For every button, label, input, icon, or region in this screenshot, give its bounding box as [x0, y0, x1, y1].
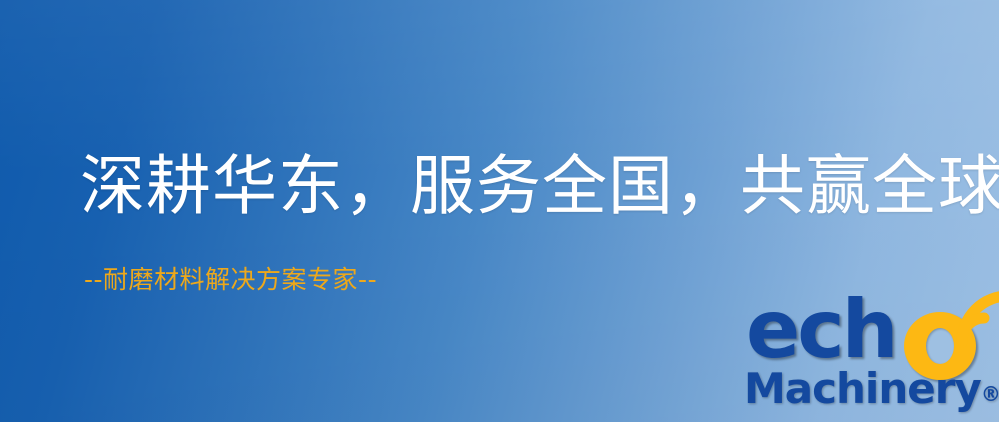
subtitle-text: --耐磨材料解决方案专家--	[84, 264, 377, 296]
promo-banner: 深耕华东，服务全国，共赢全球 --耐磨材料解决方案专家-- ech Machin…	[0, 0, 999, 422]
logo-tagline: Machinery®	[744, 366, 999, 417]
logo-brand-text: ech	[746, 290, 896, 370]
registered-trademark-icon: ®	[981, 382, 999, 406]
headline-text: 深耕华东，服务全国，共赢全球	[80, 148, 999, 226]
logo-tagline-text: Machinery	[744, 364, 981, 413]
signal-waves-icon	[956, 290, 999, 350]
logo-o-counter	[926, 328, 954, 364]
echo-machinery-logo: ech Machinery®	[742, 288, 999, 422]
